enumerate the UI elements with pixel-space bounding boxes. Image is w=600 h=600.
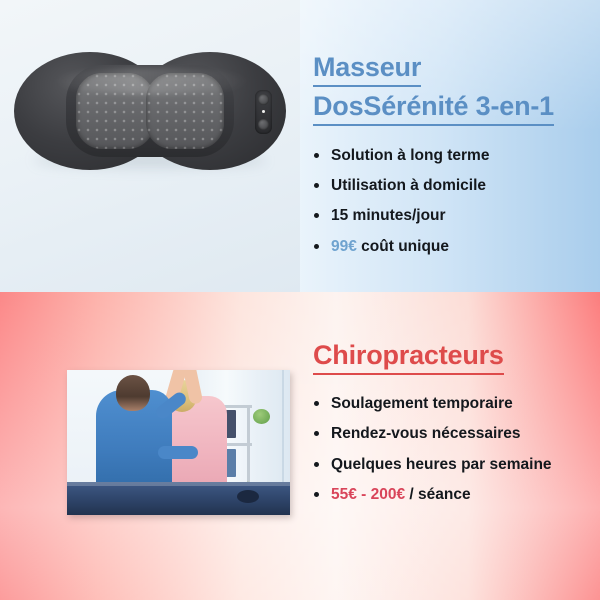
product-heading: Masseur (313, 52, 591, 87)
product-heading-line2: DosSérénité 3-en-1 (313, 91, 554, 126)
list-item: Soulagement temporaire (313, 394, 595, 413)
cushion-highlight (54, 68, 250, 94)
power-button-icon (258, 94, 269, 105)
drawback-text: Quelques heures par semaine (331, 456, 552, 473)
list-item-price: 55€ - 200€ / séance (313, 485, 595, 504)
massage-cushion-illustration (14, 52, 286, 170)
chiropractor-text-block: Chiropracteurs Soulagement temporaire Re… (313, 340, 595, 515)
hanging-plant-icon (253, 409, 270, 424)
list-item: Solution à long terme (313, 146, 591, 165)
chiropractor-arm (158, 446, 198, 459)
chiropractor-heading-line1: Chiropracteurs (313, 340, 504, 375)
chiropractor-heading: Chiropracteurs (313, 340, 595, 375)
chiropractor-drawback-list: Soulagement temporaire Rendez-vous néces… (313, 394, 595, 505)
product-price: 99€ (331, 238, 357, 255)
list-item: 15 minutes/jour (313, 206, 591, 225)
benefit-text: Utilisation à domicile (331, 177, 486, 194)
drawback-text: Soulagement temporaire (331, 395, 513, 412)
chiropractor-price-suffix: / séance (405, 486, 471, 503)
list-item: Quelques heures par semaine (313, 455, 595, 474)
drawback-text: Rendez-vous nécessaires (331, 425, 521, 442)
benefit-text: 15 minutes/jour (331, 207, 446, 224)
product-price-suffix: coût unique (357, 238, 449, 255)
product-heading-2: DosSérénité 3-en-1 (313, 91, 591, 126)
product-benefit-list: Solution à long terme Utilisation à domi… (313, 146, 591, 257)
comparison-poster: Masseur DosSérénité 3-en-1 Solution à lo… (0, 0, 600, 600)
list-item-price: 99€ coût unique (313, 237, 591, 256)
control-panel-icon (255, 90, 272, 134)
table-face-hole (237, 490, 259, 503)
product-panel: Masseur DosSérénité 3-en-1 Solution à lo… (0, 0, 600, 292)
massage-cushion-product-photo (0, 0, 300, 292)
chiropractor-price: 55€ - 200€ (331, 486, 405, 503)
chiropractor-treating-patient-photo (67, 370, 290, 515)
mode-button-icon (258, 119, 269, 130)
chiropractor-head (116, 375, 150, 411)
product-heading-line1: Masseur (313, 52, 421, 87)
benefit-text: Solution à long terme (331, 147, 489, 164)
treatment-table (67, 482, 290, 515)
led-indicator-icon (262, 110, 265, 113)
list-item: Utilisation à domicile (313, 176, 591, 195)
product-text-block: Masseur DosSérénité 3-en-1 Solution à lo… (313, 52, 591, 267)
list-item: Rendez-vous nécessaires (313, 424, 595, 443)
